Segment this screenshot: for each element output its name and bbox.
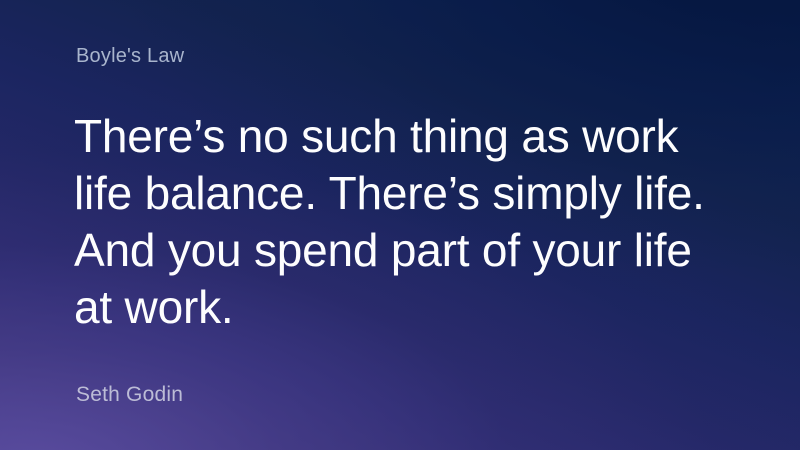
- quote-card: Boyle's Law There’s no such thing as wor…: [0, 0, 800, 450]
- source-label: Boyle's Law: [76, 43, 184, 69]
- quote-body: There’s no such thing as work life balan…: [74, 108, 714, 336]
- quote-attribution: Seth Godin: [76, 381, 183, 409]
- quote-content: Boyle's Law There’s no such thing as wor…: [0, 0, 800, 450]
